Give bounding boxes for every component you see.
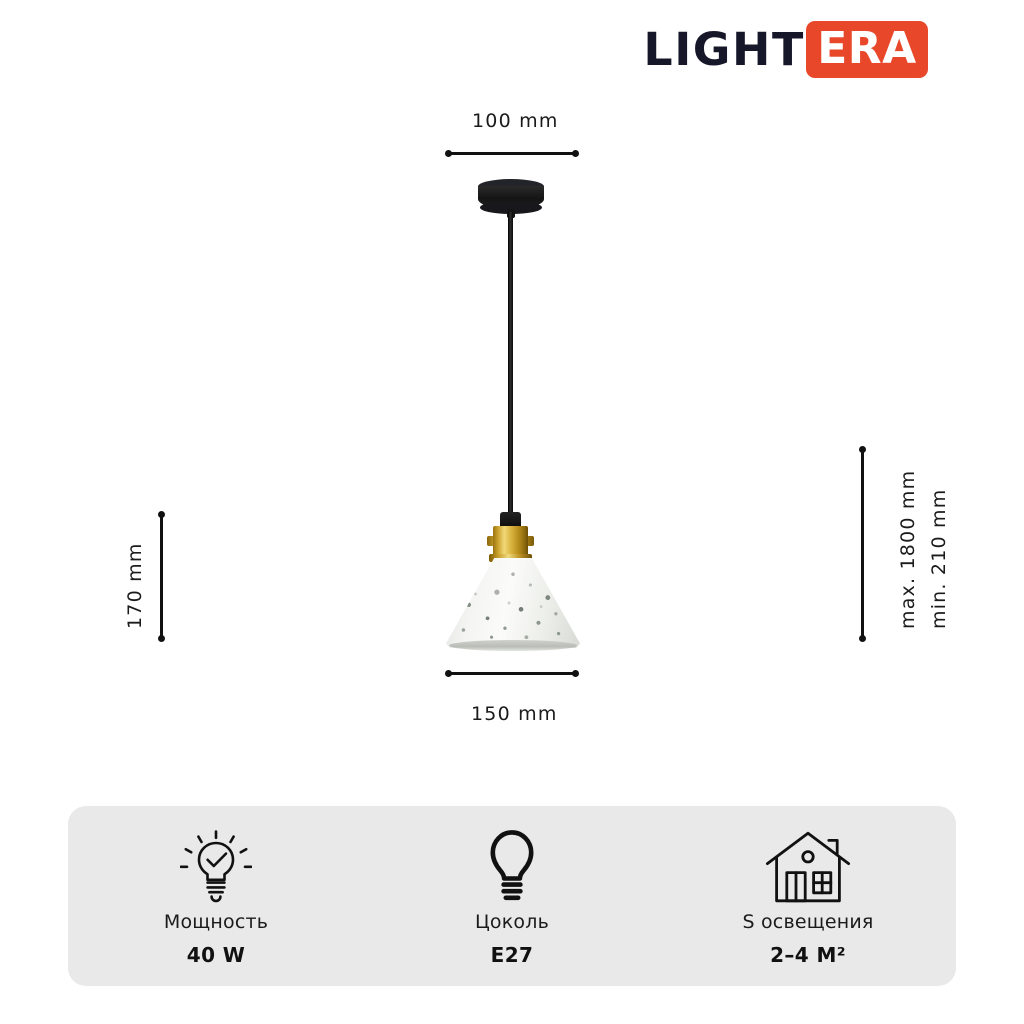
dimension-label-max-height: max. 1800 mm <box>897 470 919 629</box>
house-icon <box>765 829 851 905</box>
brand-logo: LIGHT ERA <box>645 18 928 80</box>
spec-label-socket: Цоколь <box>475 911 549 934</box>
shade-inner-lip <box>449 640 577 651</box>
brand-word-era: ERA <box>817 27 917 71</box>
bulb-check-icon <box>180 829 252 905</box>
ceiling-canopy <box>478 179 544 216</box>
spec-label-power: Мощность <box>164 911 268 934</box>
spec-item-power: Мощность 40 W <box>68 806 364 986</box>
terrazzo-lamp-shade <box>446 558 580 648</box>
socket-collar <box>487 536 534 546</box>
canopy-cable-outlet <box>507 209 515 218</box>
socket-cable-cap <box>500 512 521 528</box>
specification-panel: Мощность 40 W Цоколь E27 S освещ <box>68 806 956 986</box>
brand-word-light: LIGHT <box>643 27 804 72</box>
spec-value-socket: E27 <box>491 943 534 967</box>
socket-bottom-ring <box>489 554 532 562</box>
dimension-label-shade-height: 170 mm <box>124 542 146 629</box>
spec-label-lighting-area: S освещения <box>742 911 873 934</box>
spec-value-power: 40 W <box>187 943 245 967</box>
spec-item-socket: Цоколь E27 <box>364 806 660 986</box>
brand-era-badge: ERA <box>806 21 928 78</box>
dimension-line-suspension-height <box>861 447 864 641</box>
dimension-label-min-height: min. 210 mm <box>928 489 950 629</box>
canopy-bottom-face <box>480 201 542 214</box>
dimension-line-shade-height <box>160 512 163 641</box>
spec-item-lighting-area: S освещения 2–4 M² <box>660 806 956 986</box>
bulb-base-icon <box>481 829 543 905</box>
brass-lamp-socket <box>493 526 528 562</box>
dimension-label-canopy-diameter: 100 mm <box>472 110 559 132</box>
dimension-label-shade-diameter: 150 mm <box>471 703 558 725</box>
shade-surface <box>446 558 580 648</box>
dimension-line-canopy-diameter <box>446 152 578 155</box>
suspension-cable <box>508 212 513 515</box>
canopy-top-face <box>478 179 544 194</box>
spec-value-lighting-area: 2–4 M² <box>770 943 846 967</box>
dimension-line-shade-diameter <box>446 672 578 675</box>
canopy-body <box>478 186 544 209</box>
